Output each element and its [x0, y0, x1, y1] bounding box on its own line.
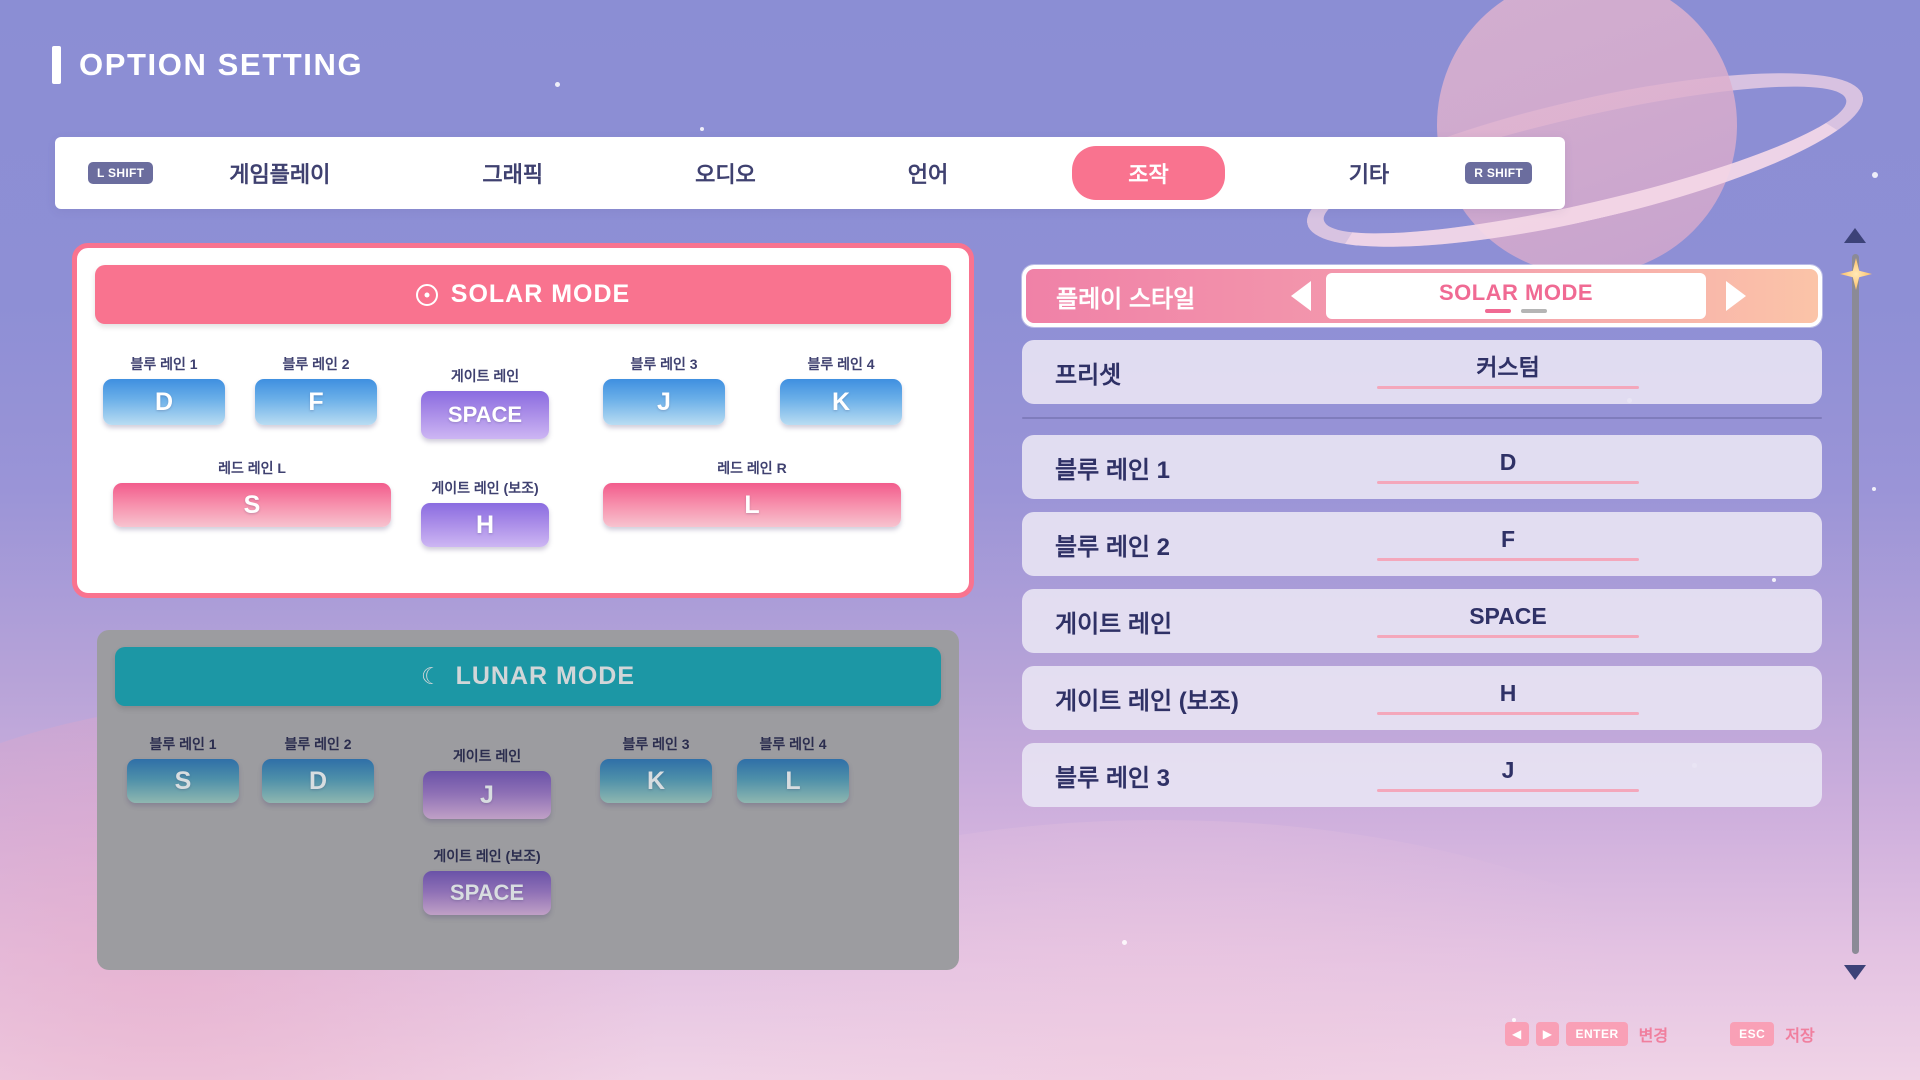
lunar-mode-panel: ☾ LUNAR MODE 블루 레인 1 S 블루 레인 2 D 게이트 레인 …: [97, 630, 959, 970]
section-divider: [1022, 417, 1822, 419]
option-row-play-style[interactable]: 플레이 스타일 SOLAR MODE: [1022, 265, 1822, 327]
option-row-blue-lane-3[interactable]: 블루 레인 3 J: [1022, 743, 1822, 807]
key-label: 게이트 레인 (보조): [423, 846, 551, 866]
tab-language[interactable]: 언어: [880, 148, 976, 198]
star-dot: [700, 127, 704, 131]
lunar-key-gate-sub[interactable]: 게이트 레인 (보조) SPACE: [423, 846, 551, 915]
key-label: 레드 레인 L: [113, 458, 391, 478]
lunar-mode-header: ☾ LUNAR MODE: [115, 647, 941, 706]
tab-etc[interactable]: 기타: [1321, 148, 1417, 198]
option-value-wrap: SPACE: [1377, 604, 1639, 637]
right-arrow-icon[interactable]: [1726, 281, 1746, 311]
option-label: 프리셋: [1055, 355, 1121, 390]
value-underline: [1377, 789, 1639, 792]
solar-key-blue3[interactable]: 블루 레인 3 J: [603, 354, 725, 425]
key-label: 블루 레인 4: [780, 354, 902, 374]
solar-mode-panel: SOLAR MODE 블루 레인 1 D 블루 레인 2 F 게이트 레인 SP…: [72, 243, 974, 598]
key-cap[interactable]: K: [600, 759, 712, 803]
key-cap[interactable]: S: [127, 759, 239, 803]
option-row-gate-lane-sub[interactable]: 게이트 레인 (보조) H: [1022, 666, 1822, 730]
l-shift-badge: L SHIFT: [88, 162, 153, 184]
key-label: 게이트 레인: [423, 746, 551, 766]
key-cap[interactable]: SPACE: [423, 871, 551, 915]
footer-key-hints: ◀ ▶ ENTER 변경 ESC 저장: [1505, 1022, 1815, 1046]
solar-keyrow-1: 블루 레인 1 D 블루 레인 2 F 게이트 레인 SPACE 블루 레인 3…: [95, 346, 951, 442]
solar-key-blue4[interactable]: 블루 레인 4 K: [780, 354, 902, 425]
hint-save: ESC 저장: [1730, 1022, 1815, 1046]
key-cap[interactable]: D: [262, 759, 374, 803]
lunar-mode-label: LUNAR MODE: [456, 662, 635, 691]
page-title: OPTION SETTING: [52, 46, 363, 84]
option-row-blue-lane-2[interactable]: 블루 레인 2 F: [1022, 512, 1822, 576]
solar-key-blue2[interactable]: 블루 레인 2 F: [255, 354, 377, 425]
solar-key-gate[interactable]: 게이트 레인 SPACE: [421, 366, 549, 439]
page-indicator: [1485, 309, 1547, 313]
key-cap[interactable]: J: [603, 379, 725, 425]
key-cap[interactable]: SPACE: [421, 391, 549, 439]
solar-key-redL[interactable]: 레드 레인 L S: [113, 458, 391, 527]
lunar-keyrow-1: 블루 레인 1 S 블루 레인 2 D 게이트 레인 J 블루 레인 3 K 블…: [115, 726, 941, 822]
option-list-scrollbar[interactable]: [1838, 228, 1872, 980]
lunar-keyrow-2: 게이트 레인 (보조) SPACE: [115, 846, 941, 942]
triangle-up-icon[interactable]: [1844, 228, 1866, 243]
option-label: 블루 레인 1: [1055, 450, 1170, 485]
option-row-gate-lane[interactable]: 게이트 레인 SPACE: [1022, 589, 1822, 653]
option-value: 커스텀: [1377, 355, 1639, 379]
esc-key-icon: ESC: [1730, 1022, 1774, 1046]
option-value: J: [1377, 758, 1639, 782]
value-underline: [1377, 635, 1639, 638]
option-row-blue-lane-1[interactable]: 블루 레인 1 D: [1022, 435, 1822, 499]
key-label: 게이트 레인: [421, 366, 549, 386]
lunar-key-blue4[interactable]: 블루 레인 4 L: [737, 734, 849, 803]
solar-key-blue1[interactable]: 블루 레인 1 D: [103, 354, 225, 425]
scrollbar-track[interactable]: [1852, 254, 1859, 954]
sun-icon: [416, 284, 438, 306]
hint-save-label: 저장: [1785, 1022, 1814, 1046]
solar-mode-label: SOLAR MODE: [451, 280, 630, 309]
solar-mode-header: SOLAR MODE: [95, 265, 951, 324]
value-underline: [1377, 386, 1639, 389]
lunar-key-blue3[interactable]: 블루 레인 3 K: [600, 734, 712, 803]
key-label: 블루 레인 2: [255, 354, 377, 374]
key-cap[interactable]: K: [780, 379, 902, 425]
value-underline: [1377, 481, 1639, 484]
key-label: 블루 레인 3: [603, 354, 725, 374]
key-cap[interactable]: J: [423, 771, 551, 819]
option-label: 게이트 레인 (보조): [1055, 681, 1239, 716]
star-thumb-icon[interactable]: [1840, 258, 1872, 290]
key-label: 게이트 레인 (보조): [421, 478, 549, 498]
title-accent-bar: [52, 46, 61, 84]
tab-controls[interactable]: 조작: [1072, 146, 1224, 200]
option-value-wrap: J: [1377, 758, 1639, 791]
option-label: 블루 레인 2: [1055, 527, 1170, 562]
enter-key-icon: ENTER: [1566, 1022, 1627, 1046]
key-cap[interactable]: S: [113, 483, 391, 527]
value-underline: [1377, 558, 1639, 561]
option-value-wrap: H: [1377, 681, 1639, 714]
option-value: H: [1377, 681, 1639, 705]
right-arrow-key-icon: ▶: [1536, 1022, 1560, 1046]
key-cap[interactable]: H: [421, 503, 549, 547]
page-indicator-dot-active: [1485, 309, 1511, 313]
option-value-wrap: 커스텀: [1377, 355, 1639, 388]
solar-key-redR[interactable]: 레드 레인 R L: [603, 458, 901, 527]
hint-change: ◀ ▶ ENTER 변경: [1505, 1022, 1668, 1046]
key-label: 블루 레인 1: [127, 734, 239, 754]
star-dot: [1122, 940, 1127, 945]
page-title-text: OPTION SETTING: [79, 47, 363, 83]
triangle-down-icon[interactable]: [1844, 965, 1866, 980]
option-value: SPACE: [1377, 604, 1639, 628]
key-cap[interactable]: F: [255, 379, 377, 425]
option-row-preset[interactable]: 프리셋 커스텀: [1022, 340, 1822, 404]
option-value-wrap: F: [1377, 527, 1639, 560]
moon-icon: ☾: [421, 665, 443, 688]
key-label: 블루 레인 3: [600, 734, 712, 754]
tab-list: 게임플레이 그래픽 오디오 언어 조작 기타: [153, 146, 1465, 200]
left-arrow-icon[interactable]: [1291, 281, 1311, 311]
option-label: 게이트 레인: [1055, 604, 1172, 639]
key-label: 레드 레인 R: [603, 458, 901, 478]
key-label: 블루 레인 2: [262, 734, 374, 754]
value-underline: [1377, 712, 1639, 715]
star-dot: [555, 82, 560, 87]
star-dot: [1872, 172, 1878, 178]
tab-gameplay[interactable]: 게임플레이: [201, 148, 358, 198]
r-shift-badge: R SHIFT: [1465, 162, 1532, 184]
tab-graphics[interactable]: 그래픽: [454, 148, 571, 198]
option-label: 플레이 스타일: [1056, 279, 1195, 314]
lunar-key-gate[interactable]: 게이트 레인 J: [423, 746, 551, 819]
key-label: 블루 레인 1: [103, 354, 225, 374]
tab-audio[interactable]: 오디오: [667, 148, 784, 198]
star-dot: [1872, 487, 1876, 491]
hint-change-label: 변경: [1639, 1022, 1668, 1046]
option-value: D: [1377, 450, 1639, 474]
key-cap[interactable]: D: [103, 379, 225, 425]
lunar-key-blue2[interactable]: 블루 레인 2 D: [262, 734, 374, 803]
page-indicator-dot: [1521, 309, 1547, 313]
settings-tabbar: L SHIFT 게임플레이 그래픽 오디오 언어 조작 기타 R SHIFT: [55, 137, 1565, 209]
key-cap[interactable]: L: [737, 759, 849, 803]
left-arrow-key-icon: ◀: [1505, 1022, 1529, 1046]
option-label: 블루 레인 3: [1055, 758, 1170, 793]
solar-key-gate-sub[interactable]: 게이트 레인 (보조) H: [421, 478, 549, 547]
play-style-value-box[interactable]: SOLAR MODE: [1326, 273, 1706, 319]
option-value: F: [1377, 527, 1639, 551]
solar-keyrow-2: 레드 레인 L S 게이트 레인 (보조) H 레드 레인 R L: [95, 454, 951, 550]
lunar-key-blue1[interactable]: 블루 레인 1 S: [127, 734, 239, 803]
option-list: 플레이 스타일 SOLAR MODE 프리셋 커스텀 블루 레인 1 D 블루 …: [1022, 265, 1822, 820]
option-value-wrap: D: [1377, 450, 1639, 483]
key-label: 블루 레인 4: [737, 734, 849, 754]
key-cap[interactable]: L: [603, 483, 901, 527]
play-style-value: SOLAR MODE: [1439, 280, 1593, 306]
